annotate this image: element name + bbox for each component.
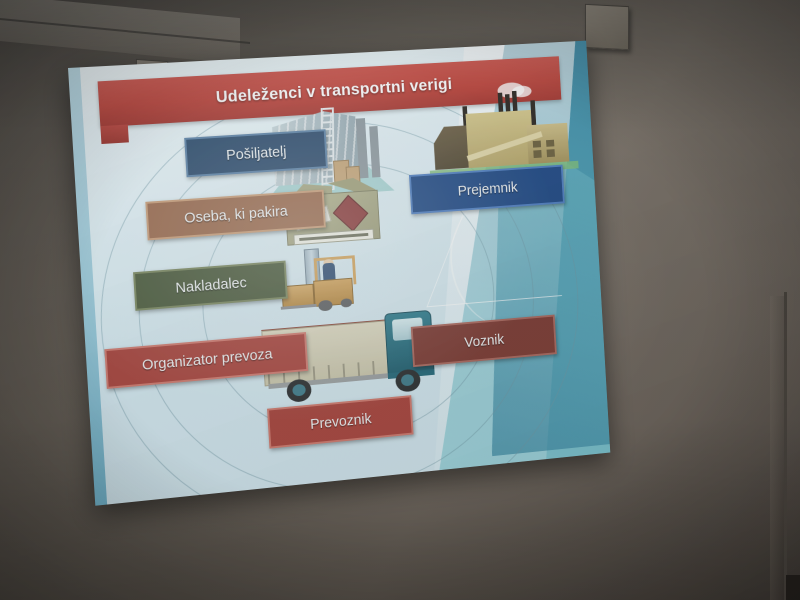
forklift-wheel-rear (341, 298, 353, 308)
factory-window-4 (547, 150, 555, 157)
label-posiljatelj-text: Pošiljatelj (187, 141, 325, 166)
label-oseba-ki-pakira-text: Oseba, ki pakira (147, 200, 323, 229)
factory-window-3 (534, 150, 542, 157)
label-voznik-text: Voznik (413, 327, 554, 355)
factory-window-2 (546, 140, 554, 147)
label-prejemnik-text: Prejemnik (412, 176, 563, 203)
projection-screen-area: Udeleženci v transportni verigi (0, 0, 800, 600)
warehouse-pillar-2 (370, 126, 381, 178)
slide-canvas: Udeleženci v transportni verigi (68, 41, 610, 506)
label-nakladalec-text: Nakladalec (135, 271, 285, 299)
factory-window-1 (533, 141, 541, 148)
photo-frame: Udeleženci v transportni verigi (0, 0, 800, 600)
slide-title-banner-tab (100, 124, 128, 144)
label-organizator-prevoza-text: Organizator prevoza (107, 343, 305, 377)
projection-screen: Udeleženci v transportni verigi (68, 41, 610, 506)
label-prevoznik-text: Prevoznik (270, 407, 411, 437)
